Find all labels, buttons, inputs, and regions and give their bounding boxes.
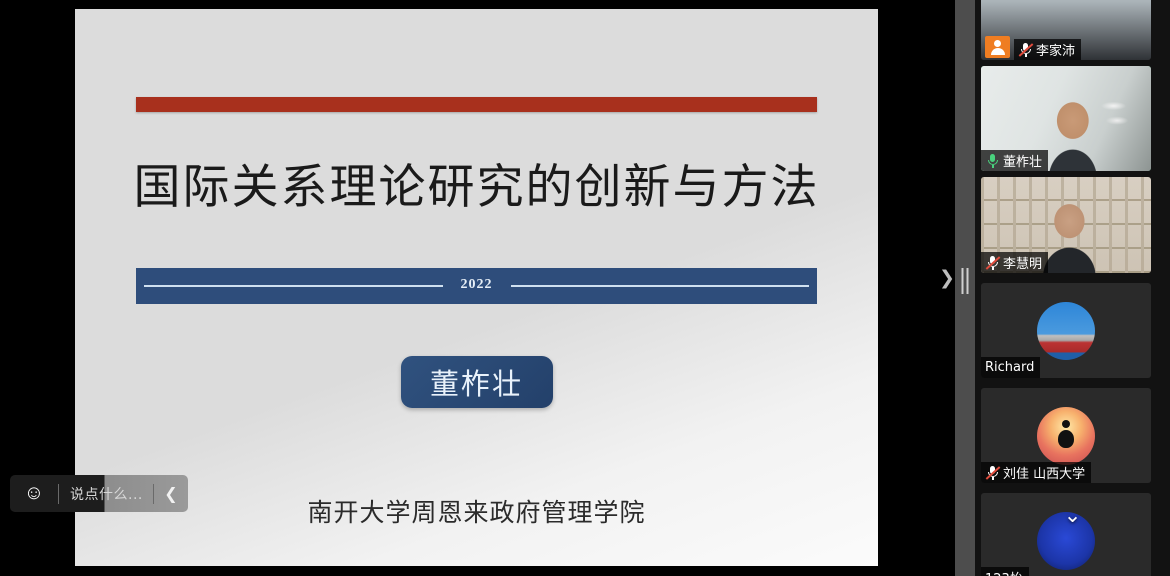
host-badge <box>985 36 1010 58</box>
participant-name-pill: Richard <box>981 357 1040 378</box>
slide-blue-band: 2022 <box>136 268 817 304</box>
chat-input[interactable]: 说点什么... <box>59 475 153 512</box>
participant-tile[interactable]: 董柞壮 <box>981 66 1151 171</box>
slide-year: 2022 <box>443 277 511 293</box>
mic-muted-icon <box>1018 42 1033 57</box>
drag-grip-icon <box>962 268 969 294</box>
participant-name-pill: 刘佳 山西大学 <box>981 462 1091 483</box>
participant-name-pill: 董柞壮 <box>981 150 1048 171</box>
smiley-icon[interactable]: ☺ <box>10 475 58 512</box>
participant-video-strip[interactable]: 李家沛 董柞壮 李慧明 <box>975 0 1170 576</box>
mic-muted-icon <box>985 465 1000 480</box>
participant-name: Richard <box>985 360 1034 375</box>
slide-presenter-box: 董柞壮 <box>401 356 553 408</box>
participant-name: 董柞壮 <box>1003 151 1042 170</box>
chevron-left-icon[interactable]: ❮ <box>154 475 188 512</box>
slide-affiliation: 南开大学周恩来政府管理学院 <box>75 493 878 529</box>
mic-muted-icon <box>985 255 1000 270</box>
participant-tile[interactable]: 李慧明 <box>981 177 1151 273</box>
slide-red-accent-bar <box>136 97 817 112</box>
presentation-slide: 国际关系理论研究的创新与方法 2022 董柞壮 南开大学周恩来政府管理学院 <box>75 9 878 566</box>
participant-name: 李慧明 <box>1003 253 1042 272</box>
shared-screen-stage: 国际关系理论研究的创新与方法 2022 董柞壮 南开大学周恩来政府管理学院 ❯ … <box>0 0 955 576</box>
slide-presenter-name: 董柞壮 <box>430 361 523 403</box>
participant-name: 李家沛 <box>1036 40 1075 59</box>
slide-title: 国际关系理论研究的创新与方法 <box>75 159 878 218</box>
participant-name-pill: 123怡 <box>981 567 1029 576</box>
participant-name: 123怡 <box>985 568 1023 576</box>
avatar <box>1037 407 1095 465</box>
chevron-down-icon[interactable]: ⌄ <box>1064 503 1082 528</box>
participant-name: 刘佳 山西大学 <box>1003 463 1085 482</box>
participant-name-pill: 李慧明 <box>981 252 1048 273</box>
mic-on-icon <box>985 153 1000 168</box>
avatar <box>1037 302 1095 360</box>
participant-tile[interactable]: 刘佳 山西大学 <box>981 388 1151 483</box>
meeting-window: 国际关系理论研究的创新与方法 2022 董柞壮 南开大学周恩来政府管理学院 ❯ … <box>0 0 1170 576</box>
chat-input-bar[interactable]: ☺ 说点什么... ❮ <box>10 475 188 512</box>
panel-drag-handle[interactable] <box>955 0 975 576</box>
chevron-right-icon[interactable]: ❯ <box>938 268 956 290</box>
participant-name-pill: 李家沛 <box>1014 39 1081 60</box>
participant-tile[interactable]: 李家沛 <box>981 0 1151 60</box>
participant-tile[interactable]: Richard <box>981 283 1151 378</box>
